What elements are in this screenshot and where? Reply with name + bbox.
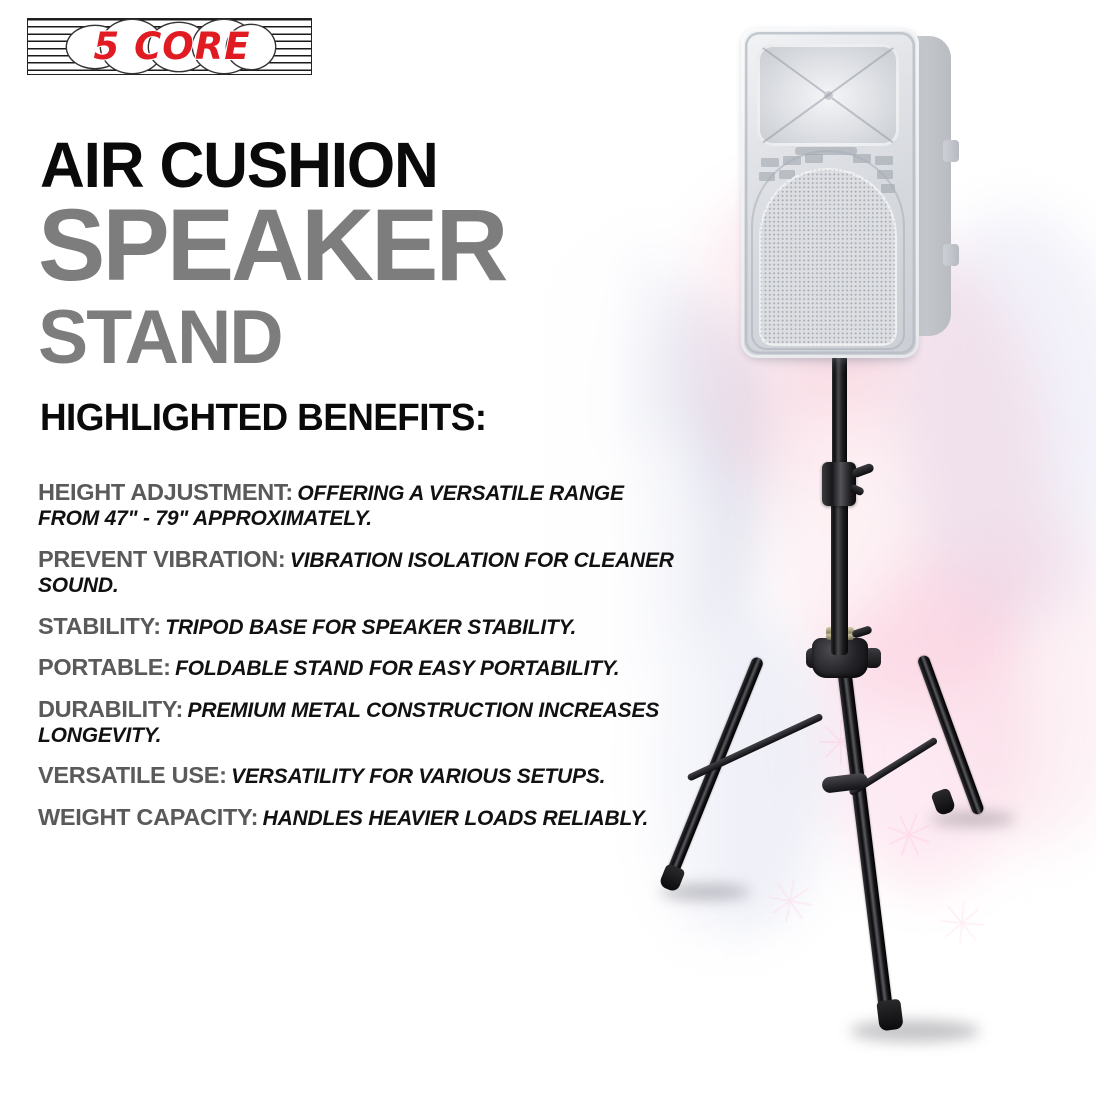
benefit-label: VERSATILE USE: xyxy=(38,762,227,788)
benefit-item: PORTABLE: FOLDABLE STAND FOR EASY PORTAB… xyxy=(38,653,678,681)
brand-logo: 5 CORE xyxy=(27,18,312,75)
logo-text-value: 5 CORE xyxy=(94,25,251,68)
benefit-label: PORTABLE: xyxy=(38,654,171,680)
horn-tweeter xyxy=(757,44,899,146)
benefit-label: STABILITY: xyxy=(38,613,161,639)
benefit-item: STABILITY: TRIPOD BASE FOR SPEAKER STABI… xyxy=(38,612,678,640)
benefit-description: HANDLES HEAVIER LOADS RELIABLY. xyxy=(263,807,648,830)
infographic-canvas: 5 CORE AIR CUSHION SPEAKER STAND HIGHLIG… xyxy=(0,0,1096,1096)
stand-lower-pole xyxy=(831,495,848,655)
speaker-vent-slot xyxy=(761,158,779,167)
speaker-side-handle-top xyxy=(943,140,959,162)
logo-text: 5 CORE xyxy=(69,22,275,71)
benefit-item: DURABILITY: PREMIUM METAL CONSTRUCTION I… xyxy=(38,695,678,749)
benefit-label: WEIGHT CAPACITY: xyxy=(38,804,258,830)
benefits-list: HEIGHT ADJUSTMENT: OFFERING A VERSATILE … xyxy=(38,478,678,844)
tripod-leg-right xyxy=(916,654,985,816)
horn-center-dot xyxy=(824,91,833,100)
pa-speaker-cabinet xyxy=(735,18,965,368)
headline-line-2: SPEAKER xyxy=(38,194,505,296)
benefit-item: VERSATILE USE: VERSATILITY FOR VARIOUS S… xyxy=(38,761,678,789)
speaker-side-handle-bottom xyxy=(943,244,959,266)
benefit-label: DURABILITY: xyxy=(38,696,183,722)
benefit-description: FOLDABLE STAND FOR EASY PORTABILITY. xyxy=(175,657,619,680)
benefit-description: VERSATILITY FOR VARIOUS SETUPS. xyxy=(231,765,605,788)
benefit-item: WEIGHT CAPACITY: HANDLES HEAVIER LOADS R… xyxy=(38,803,678,831)
benefit-label: PREVENT VIBRATION: xyxy=(38,546,285,572)
benefit-description: TRIPOD BASE FOR SPEAKER STABILITY. xyxy=(165,616,576,639)
stand-ground-shadow xyxy=(850,1020,980,1042)
tripod-brace-left xyxy=(687,713,824,782)
benefit-item: PREVENT VIBRATION: VIBRATION ISOLATION F… xyxy=(38,545,678,599)
headline-line-3: STAND xyxy=(38,300,282,376)
tripod-foot-front xyxy=(876,999,903,1032)
benefits-section-title: HIGHLIGHTED BENEFITS: xyxy=(40,399,486,437)
tripod-collar-lever xyxy=(851,625,872,639)
benefit-label: HEIGHT ADJUSTMENT: xyxy=(38,479,293,505)
tripod-leg-front xyxy=(836,659,895,1030)
speaker-woofer-grille xyxy=(759,168,897,346)
benefit-item: HEIGHT ADJUSTMENT: OFFERING A VERSATILE … xyxy=(38,478,678,532)
height-adjustment-clamp xyxy=(822,462,856,506)
speaker-vent-slot xyxy=(875,156,893,165)
